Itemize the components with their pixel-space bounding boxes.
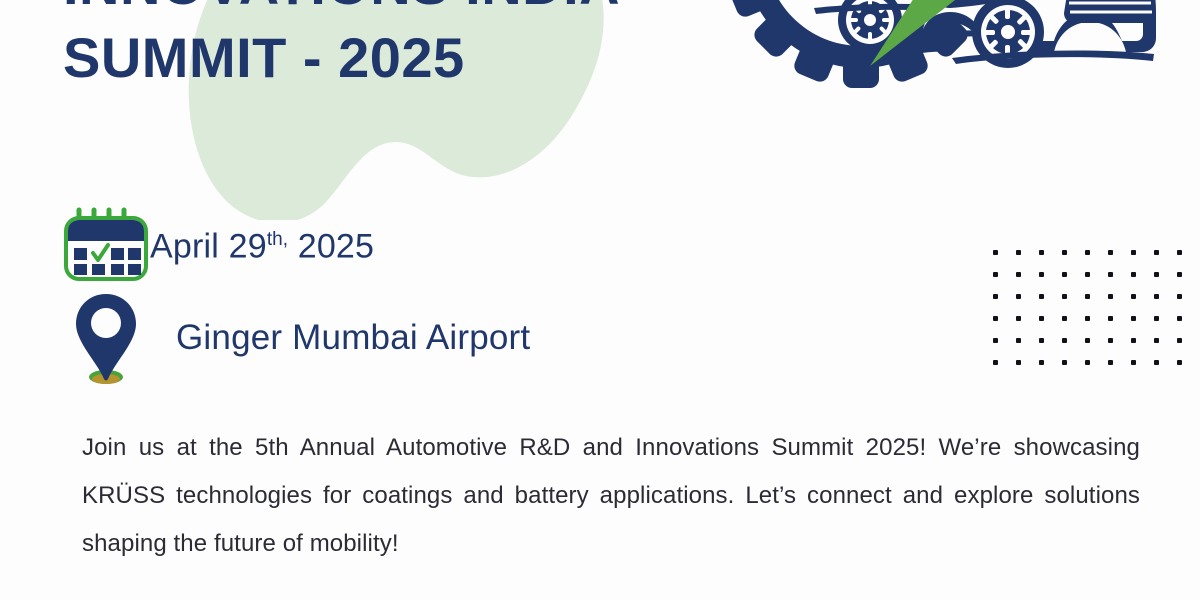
dot	[993, 272, 998, 277]
dot	[1154, 250, 1159, 255]
dot	[1177, 338, 1182, 343]
dot	[1016, 294, 1021, 299]
dot	[1177, 294, 1182, 299]
dot	[993, 316, 998, 321]
dot	[1131, 338, 1136, 343]
dot	[1085, 294, 1090, 299]
dot	[1039, 360, 1044, 365]
dot	[1108, 316, 1113, 321]
dot	[1062, 250, 1067, 255]
dot	[1039, 294, 1044, 299]
event-date-row: April 29th, 2025	[62, 203, 374, 283]
headline-line-2: SUMMIT - 2025	[63, 21, 620, 94]
dot	[993, 360, 998, 365]
dot	[1085, 338, 1090, 343]
event-venue-row: Ginger Mumbai Airport	[62, 292, 530, 384]
dot	[1177, 272, 1182, 277]
event-date-label: April 29th, 2025	[150, 219, 374, 267]
dot	[1108, 294, 1113, 299]
event-banner: INNOVATIONS INDIA SUMMIT - 2025	[0, 0, 1200, 600]
dot	[993, 338, 998, 343]
dot	[1039, 338, 1044, 343]
gear-car-lightning-logo	[718, 0, 1158, 210]
dot	[1154, 338, 1159, 343]
calendar-icon	[62, 203, 150, 283]
dot	[1177, 250, 1182, 255]
headline-line-1: INNOVATIONS INDIA	[63, 0, 620, 21]
dot	[1016, 272, 1021, 277]
dot	[1108, 360, 1113, 365]
event-date-year: 2025	[288, 227, 374, 265]
dot	[1131, 316, 1136, 321]
lightning-bolt	[870, 0, 1014, 66]
dot	[1131, 250, 1136, 255]
dot	[1016, 250, 1021, 255]
dot	[1177, 360, 1182, 365]
dot	[1108, 250, 1113, 255]
dot	[1016, 316, 1021, 321]
dot	[993, 250, 998, 255]
dot	[1108, 338, 1113, 343]
dot	[1039, 316, 1044, 321]
dot	[1154, 316, 1159, 321]
event-description: Join us at the 5th Annual Automotive R&D…	[82, 424, 1140, 568]
dot	[1085, 316, 1090, 321]
dot	[1177, 316, 1182, 321]
page-title: INNOVATIONS INDIA SUMMIT - 2025	[63, 0, 620, 94]
dot	[1016, 338, 1021, 343]
dot	[1154, 360, 1159, 365]
dot	[1154, 294, 1159, 299]
map-pin-icon	[62, 292, 150, 384]
dot	[1016, 360, 1021, 365]
dot	[1062, 360, 1067, 365]
dot	[1131, 294, 1136, 299]
gear-ring	[723, 0, 999, 88]
dot	[1154, 272, 1159, 277]
dot	[1062, 294, 1067, 299]
dot	[1085, 360, 1090, 365]
dot	[1039, 272, 1044, 277]
dot	[1131, 360, 1136, 365]
car-silhouette	[810, 0, 1156, 68]
event-date-monthday: April 29	[150, 227, 267, 265]
dot	[1062, 316, 1067, 321]
dot	[1085, 272, 1090, 277]
dot	[1108, 272, 1113, 277]
dot	[1085, 250, 1090, 255]
dot	[993, 294, 998, 299]
dot	[1131, 272, 1136, 277]
event-venue-label: Ginger Mumbai Airport	[150, 317, 530, 359]
dot-grid-pattern	[993, 250, 1200, 382]
event-date-ordinal: th,	[267, 229, 288, 250]
dot	[1062, 338, 1067, 343]
dot	[1039, 250, 1044, 255]
dot	[1062, 272, 1067, 277]
